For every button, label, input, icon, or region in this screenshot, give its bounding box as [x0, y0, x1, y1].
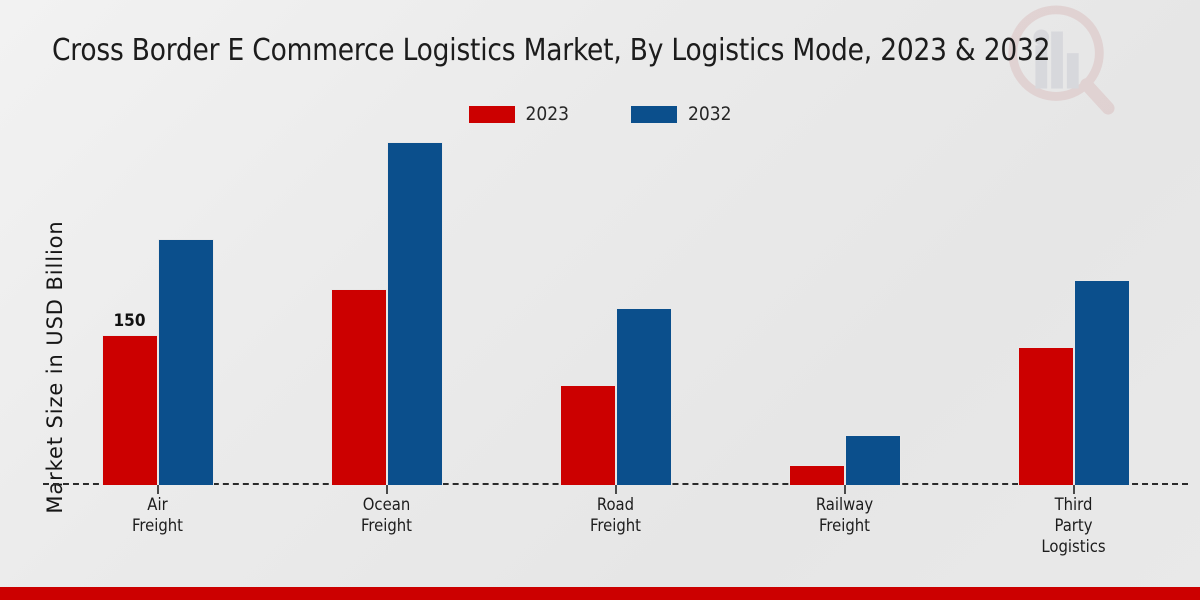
x-axis-category-label: AirFreight — [48, 494, 268, 536]
x-axis-tick — [844, 485, 846, 494]
bar-2023[interactable] — [789, 465, 845, 485]
x-axis-tick — [615, 485, 617, 494]
bottom-accent-band — [0, 587, 1200, 600]
x-axis-category-label: RoadFreight — [506, 494, 726, 536]
legend-label-2023: 2023 — [526, 103, 570, 125]
bar-pair — [964, 140, 1184, 485]
bar-group: 150AirFreight — [48, 140, 268, 485]
bar-group: RailwayFreight — [735, 140, 955, 485]
chart-figure: Cross Border E Commerce Logistics Market… — [0, 0, 1200, 600]
x-axis-tick — [1073, 485, 1075, 494]
bar-group: RoadFreight — [506, 140, 726, 485]
bar-2032[interactable] — [1074, 280, 1130, 485]
bar-2023[interactable] — [1018, 347, 1074, 485]
x-axis-category-label: ThirdPartyLogistics — [964, 494, 1184, 557]
bar-value-label: 150 — [114, 311, 146, 331]
x-axis-category-label: OceanFreight — [277, 494, 497, 536]
legend-swatch-2032 — [631, 106, 677, 123]
bar-group: OceanFreight — [277, 140, 497, 485]
bar-pair — [506, 140, 726, 485]
bar-2032[interactable] — [616, 308, 672, 485]
bar-2032[interactable] — [845, 435, 901, 485]
bar-2023[interactable] — [560, 385, 616, 485]
bar-2023[interactable] — [331, 289, 387, 485]
bar-pair — [277, 140, 497, 485]
bar-2023[interactable]: 150 — [102, 335, 158, 485]
chart-title: Cross Border E Commerce Logistics Market… — [52, 33, 1142, 68]
x-axis-tick — [157, 485, 159, 494]
legend-item-2032[interactable]: 2032 — [631, 103, 732, 125]
legend-swatch-2023 — [469, 106, 515, 123]
legend-label-2032: 2032 — [688, 103, 732, 125]
legend-item-2023[interactable]: 2023 — [469, 103, 570, 125]
x-axis-tick — [386, 485, 388, 494]
bar-pair: 150 — [48, 140, 268, 485]
plot-area: 150AirFreightOceanFreightRoadFreightRail… — [43, 140, 1188, 485]
chart-legend: 2023 2032 — [0, 103, 1200, 125]
bar-2032[interactable] — [387, 142, 443, 485]
x-axis-category-label: RailwayFreight — [735, 494, 955, 536]
bar-2032[interactable] — [158, 239, 214, 485]
bar-pair — [735, 140, 955, 485]
bar-group: ThirdPartyLogistics — [964, 140, 1184, 485]
